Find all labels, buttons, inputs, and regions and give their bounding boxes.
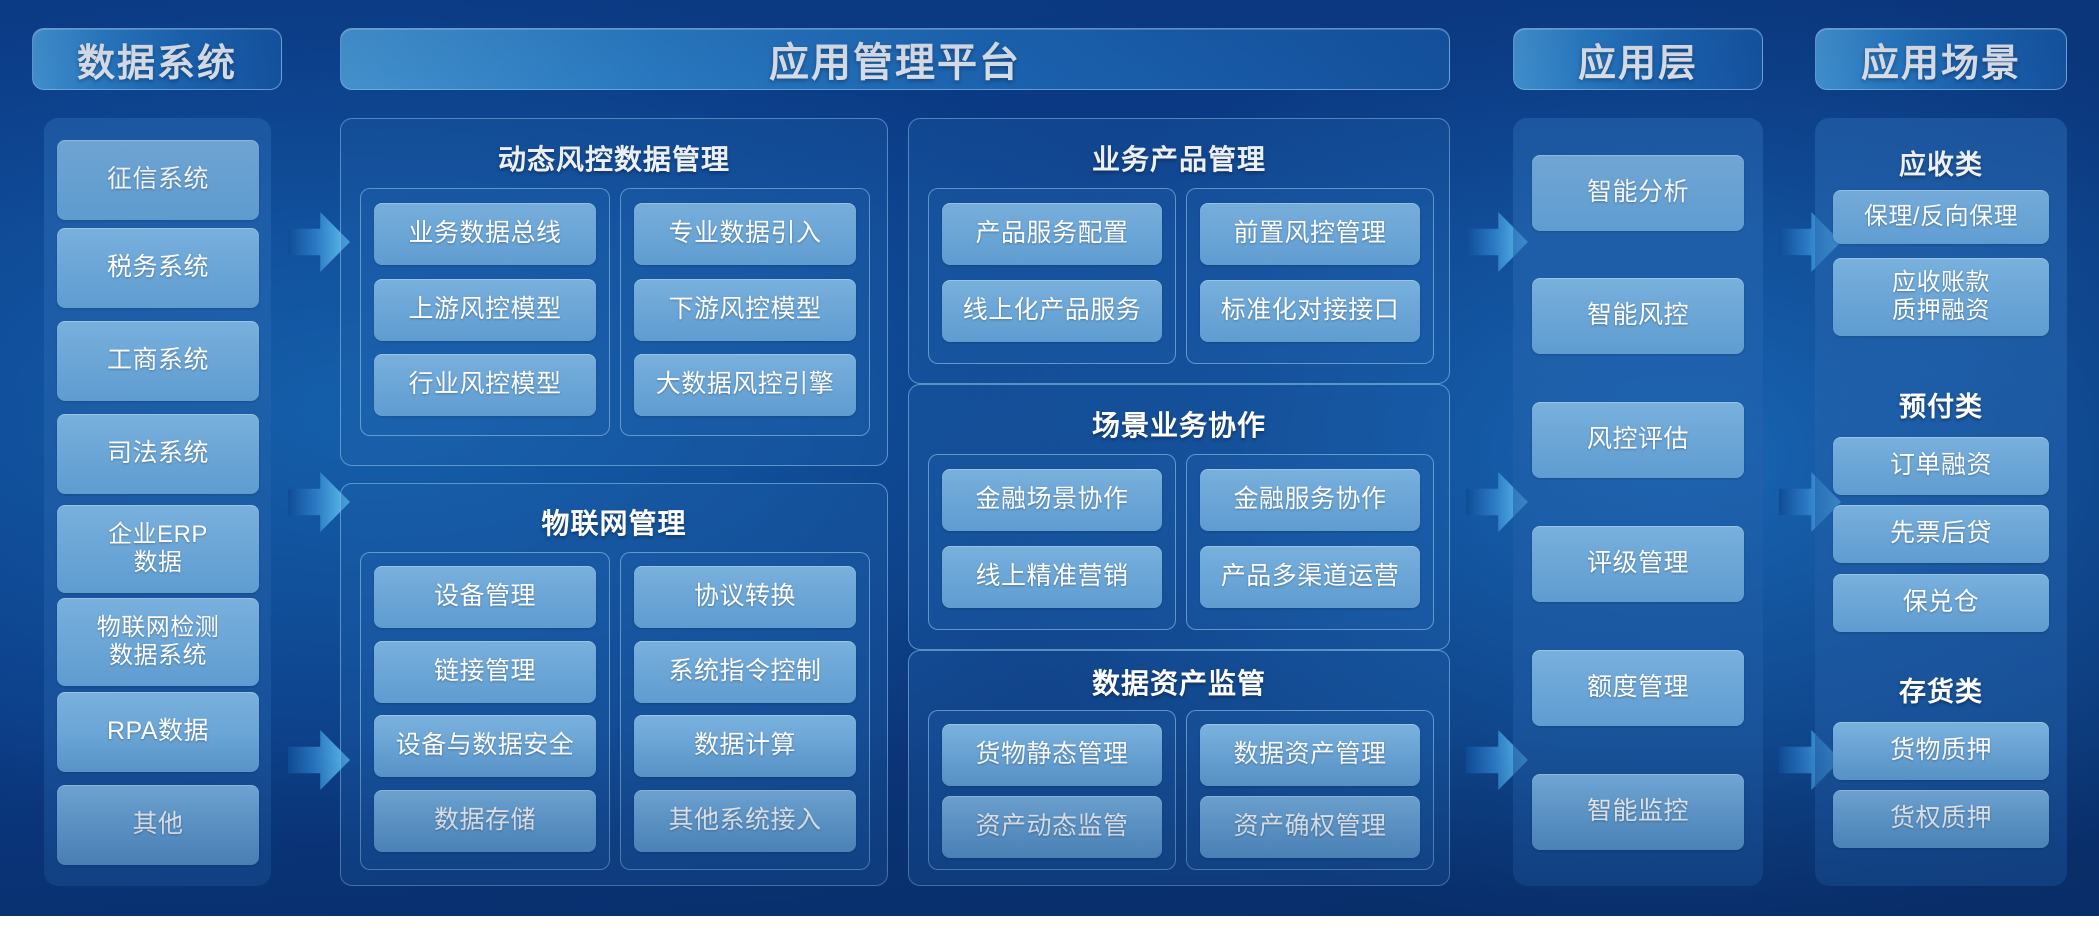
dynamic-risk-right-item-2[interactable]: 大数据风控引擎 (634, 354, 856, 416)
group-title-business-product: 业务产品管理 (908, 138, 1450, 178)
business-product-left-item-0[interactable]: 产品服务配置 (942, 203, 1162, 265)
scenario-category-title-receivable: 应收类 (1815, 143, 2067, 182)
application-layer-item-5[interactable]: 智能监控 (1532, 774, 1744, 850)
column-header-data-system: 数据系统 (32, 28, 282, 90)
data-system-item-3[interactable]: 司法系统 (57, 414, 259, 494)
scenario-left-item-0[interactable]: 金融场景协作 (942, 469, 1162, 531)
iot-right-item-1[interactable]: 系统指令控制 (634, 641, 856, 703)
iot-left-item-3[interactable]: 数据存储 (374, 790, 596, 852)
data-asset-left-item-1[interactable]: 资产动态监管 (942, 796, 1162, 858)
iot-right-item-3[interactable]: 其他系统接入 (634, 790, 856, 852)
application-layer-item-3[interactable]: 评级管理 (1532, 526, 1744, 602)
column-header-platform: 应用管理平台 (340, 28, 1450, 90)
scenario-inventory-item-0[interactable]: 货物质押 (1833, 722, 2049, 780)
data-system-item-0[interactable]: 征信系统 (57, 140, 259, 220)
scenario-right-item-1[interactable]: 产品多渠道运营 (1200, 546, 1420, 608)
scenario-receivable-item-0[interactable]: 保理/反向保理 (1833, 190, 2049, 244)
dynamic-risk-left-item-2[interactable]: 行业风控模型 (374, 354, 596, 416)
data-asset-right-item-0[interactable]: 数据资产管理 (1200, 724, 1420, 786)
dynamic-risk-left-item-1[interactable]: 上游风控模型 (374, 279, 596, 341)
iot-left-item-0[interactable]: 设备管理 (374, 566, 596, 628)
scenario-prepaid-item-0[interactable]: 订单融资 (1833, 437, 2049, 495)
application-layer-item-4[interactable]: 额度管理 (1532, 650, 1744, 726)
application-layer-item-0[interactable]: 智能分析 (1532, 155, 1744, 231)
data-asset-left-item-0[interactable]: 货物静态管理 (942, 724, 1162, 786)
data-system-item-6[interactable]: RPA数据 (57, 692, 259, 772)
column-header-application-scenario: 应用场景 (1815, 28, 2067, 90)
group-title-data-asset-supervision: 数据资产监管 (908, 662, 1450, 702)
group-title-scenario-collaboration: 场景业务协作 (908, 404, 1450, 444)
scenario-prepaid-item-2[interactable]: 保兑仓 (1833, 574, 2049, 632)
application-layer-item-2[interactable]: 风控评估 (1532, 402, 1744, 478)
scenario-prepaid-item-1[interactable]: 先票后贷 (1833, 505, 2049, 563)
data-system-item-4[interactable]: 企业ERP 数据 (57, 505, 259, 593)
architecture-diagram: 数据系统 征信系统 税务系统 工商系统 司法系统 企业ERP 数据 物联网检测 … (0, 0, 2099, 916)
dynamic-risk-right-item-0[interactable]: 专业数据引入 (634, 203, 856, 265)
business-product-left-item-1[interactable]: 线上化产品服务 (942, 280, 1162, 342)
data-system-item-7[interactable]: 其他 (57, 785, 259, 865)
data-asset-right-item-1[interactable]: 资产确权管理 (1200, 796, 1420, 858)
application-layer-item-1[interactable]: 智能风控 (1532, 278, 1744, 354)
scenario-right-item-0[interactable]: 金融服务协作 (1200, 469, 1420, 531)
scenario-inventory-item-1[interactable]: 货权质押 (1833, 790, 2049, 848)
iot-left-item-1[interactable]: 链接管理 (374, 641, 596, 703)
data-system-item-5[interactable]: 物联网检测 数据系统 (57, 598, 259, 686)
footer-white-strip (0, 916, 2099, 950)
dynamic-risk-left-item-0[interactable]: 业务数据总线 (374, 203, 596, 265)
scenario-left-item-1[interactable]: 线上精准营销 (942, 546, 1162, 608)
business-product-right-item-0[interactable]: 前置风控管理 (1200, 203, 1420, 265)
data-system-item-1[interactable]: 税务系统 (57, 228, 259, 308)
iot-right-item-2[interactable]: 数据计算 (634, 715, 856, 777)
data-system-item-2[interactable]: 工商系统 (57, 321, 259, 401)
group-title-iot-management: 物联网管理 (340, 502, 888, 542)
iot-left-item-2[interactable]: 设备与数据安全 (374, 715, 596, 777)
scenario-category-title-inventory: 存货类 (1815, 670, 2067, 709)
column-header-application-layer: 应用层 (1513, 28, 1763, 90)
business-product-right-item-1[interactable]: 标准化对接接口 (1200, 280, 1420, 342)
dynamic-risk-right-item-1[interactable]: 下游风控模型 (634, 279, 856, 341)
scenario-receivable-item-1[interactable]: 应收账款 质押融资 (1833, 258, 2049, 336)
scenario-category-title-prepaid: 预付类 (1815, 385, 2067, 424)
group-title-dynamic-risk-data: 动态风控数据管理 (340, 138, 888, 178)
iot-right-item-0[interactable]: 协议转换 (634, 566, 856, 628)
panel-application-layer (1513, 118, 1763, 886)
